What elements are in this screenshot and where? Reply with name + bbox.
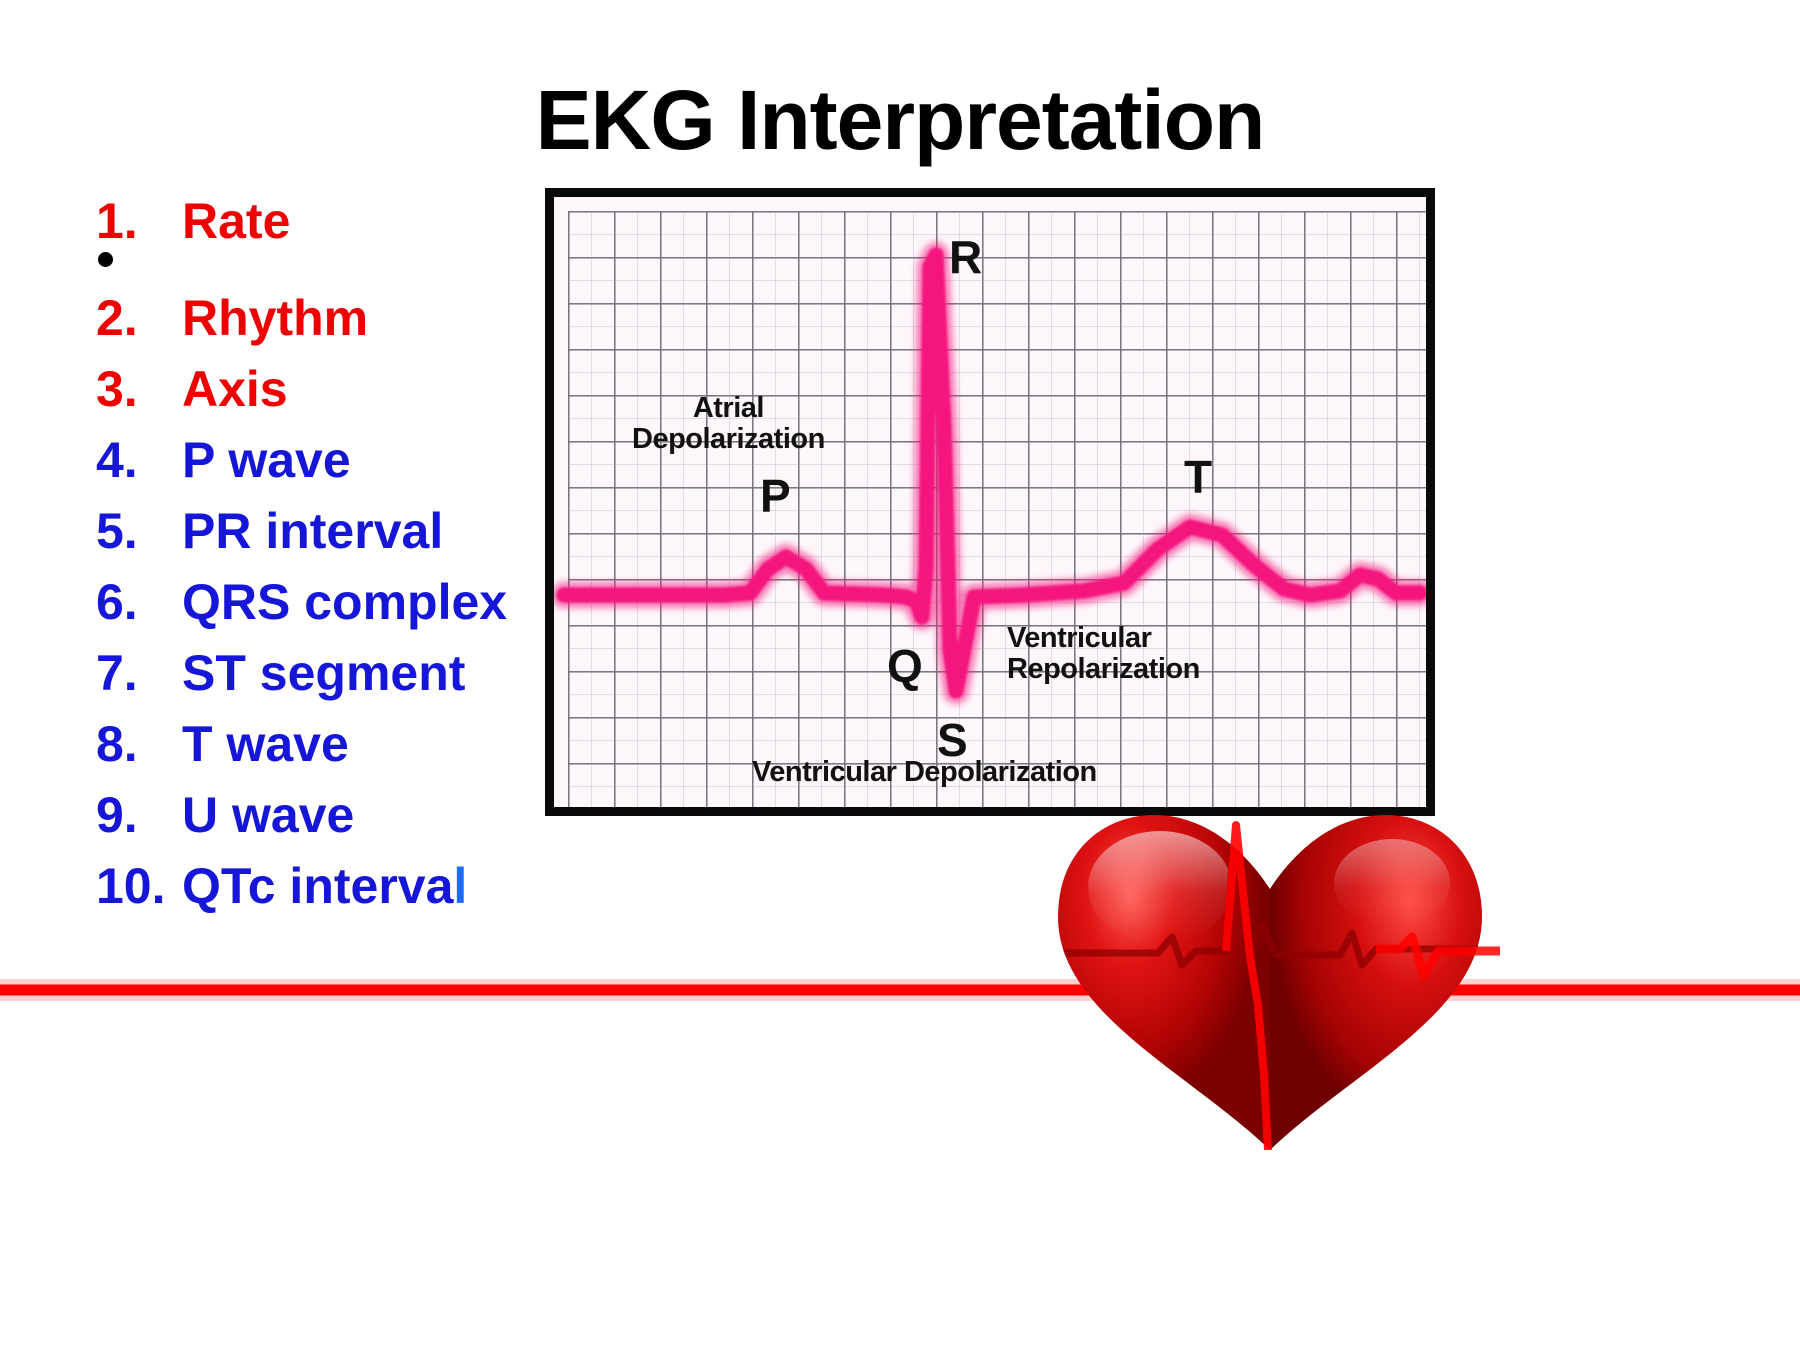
label-ventrep-line2: Repolarization xyxy=(1007,654,1200,685)
list-item-number: 8. xyxy=(96,719,182,769)
label-p-wave: P xyxy=(760,469,790,523)
heart-icon xyxy=(1040,805,1500,1150)
list-item-number: 5. xyxy=(96,506,182,556)
ekg-waveform-trace xyxy=(554,197,1426,807)
list-item-number: 10. xyxy=(96,861,182,911)
slide-canvas: EKG Interpretation 1.Rate2.Rhythm3.Axis4… xyxy=(0,0,1800,1350)
red-ekg-baseline xyxy=(0,940,1800,1080)
label-ventrep-line1: Ventricular xyxy=(1007,623,1200,654)
page-title: EKG Interpretation xyxy=(0,78,1800,162)
list-item-label: T wave xyxy=(182,719,349,769)
label-atrial-line2: Depolarization xyxy=(632,424,825,455)
label-t-wave: T xyxy=(1184,450,1212,504)
list-item-number: 6. xyxy=(96,577,182,627)
list-item-label: Rhythm xyxy=(182,293,368,343)
list-item-number: 2. xyxy=(96,293,182,343)
ekg-diagram-frame: Atrial Depolarization P R Q S T Ventricu… xyxy=(545,188,1435,816)
list-item-label: P wave xyxy=(182,435,351,485)
list-item: 10.QTc interval xyxy=(96,861,656,911)
label-ventricular-repolarization: Ventricular Repolarization xyxy=(1007,623,1200,686)
list-item-number: 7. xyxy=(96,648,182,698)
list-item-label: QTc interva xyxy=(182,861,453,911)
label-atrial-depolarization: Atrial Depolarization xyxy=(632,393,825,456)
list-item-number: 1. xyxy=(96,196,182,246)
label-atrial-line1: Atrial xyxy=(632,393,825,424)
list-item-label: PR interval xyxy=(182,506,443,556)
ekg-graph-paper: Atrial Depolarization P R Q S T Ventricu… xyxy=(554,197,1426,807)
label-q-wave: Q xyxy=(887,639,922,693)
list-item-label: U wave xyxy=(182,790,354,840)
stray-bullet-icon xyxy=(98,252,113,267)
list-item-label: Axis xyxy=(182,364,288,414)
list-item-number: 4. xyxy=(96,435,182,485)
label-r-wave: R xyxy=(949,230,982,284)
list-item-label: QRS complex xyxy=(182,577,507,627)
list-item-number: 9. xyxy=(96,790,182,840)
list-item-label-tail: l xyxy=(453,861,467,911)
list-item-label: ST segment xyxy=(182,648,465,698)
list-item-number: 3. xyxy=(96,364,182,414)
list-item-label: Rate xyxy=(182,196,290,246)
label-ventricular-depolarization: Ventricular Depolarization xyxy=(752,757,1097,788)
